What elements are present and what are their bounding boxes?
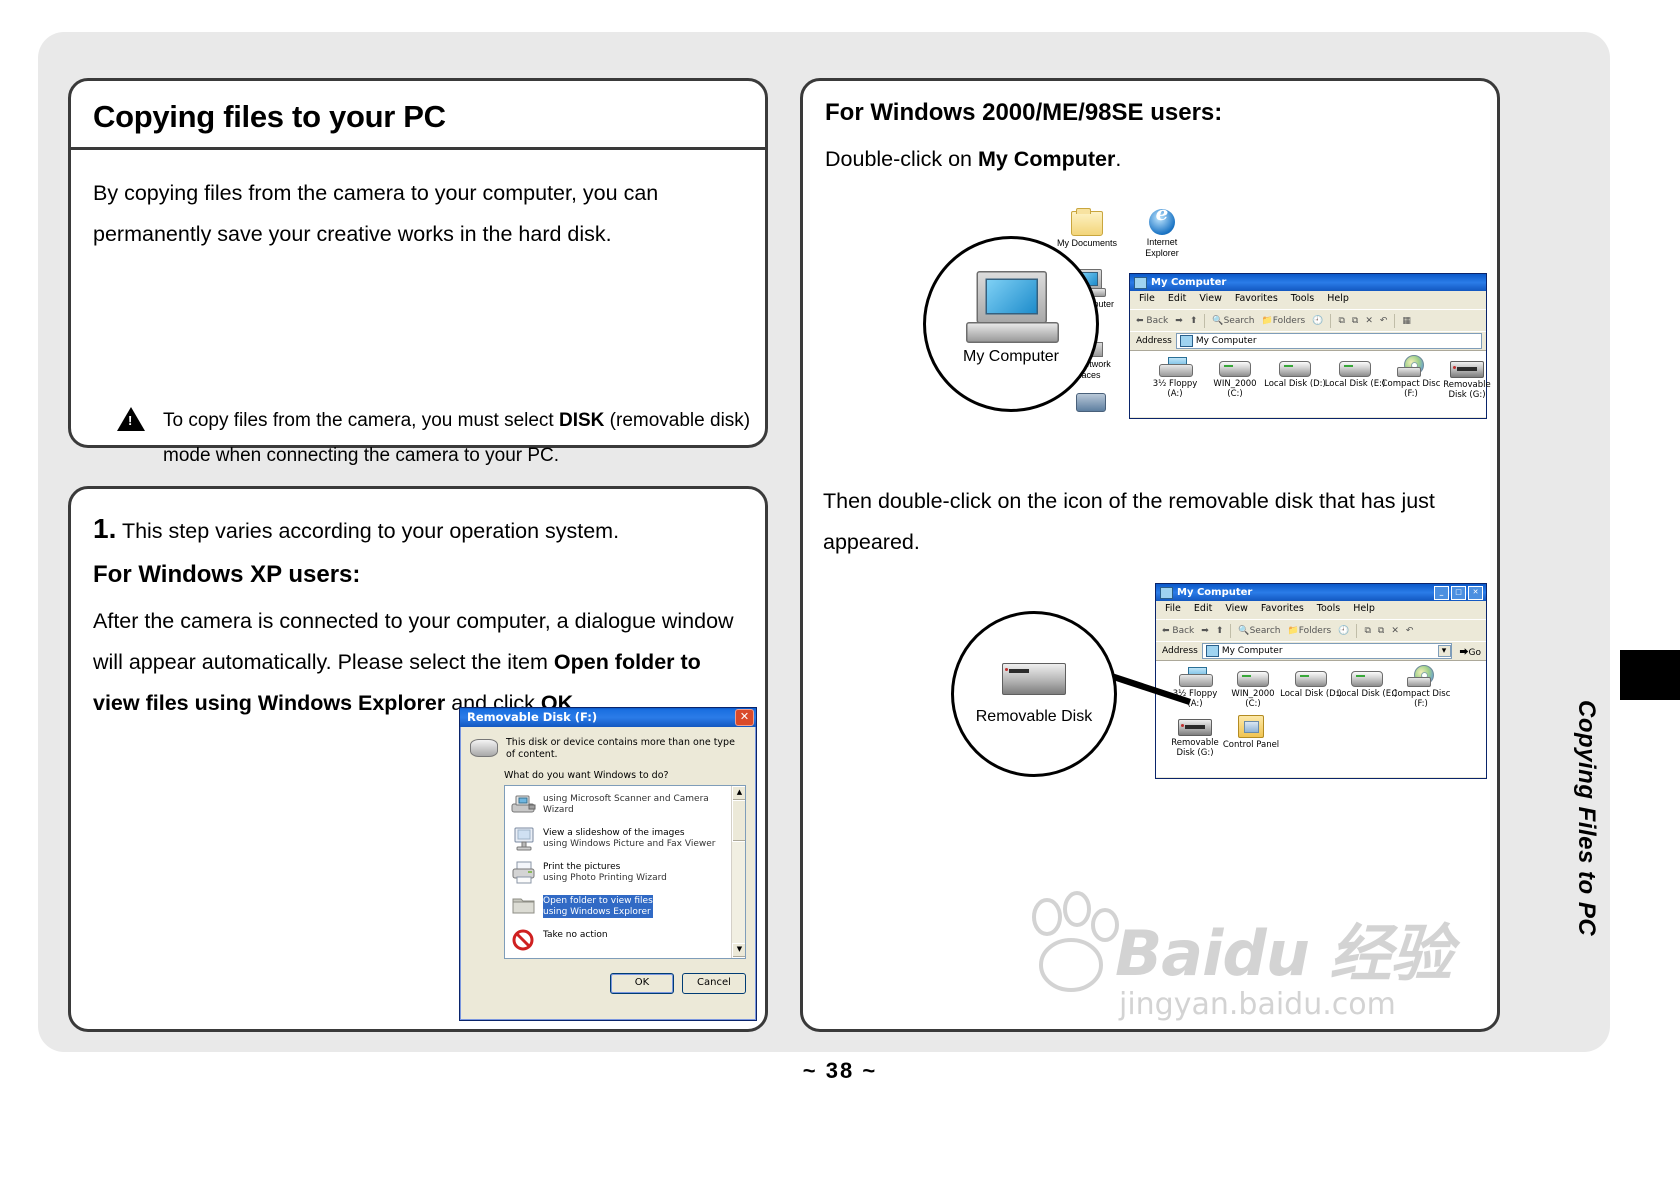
- hard-disk-icon-d-2: [1295, 671, 1327, 687]
- desktop-icon-internet-explorer: Internet Explorer: [1123, 209, 1201, 259]
- menu2-favorites[interactable]: Favorites: [1261, 603, 1304, 619]
- intro-panel: Copying files to your PC By copying file…: [68, 78, 768, 448]
- explorer-1-canvas: 3½ Floppy (A:) WIN_2000 (C:) Local Disk …: [1130, 350, 1486, 417]
- menu-help[interactable]: Help: [1327, 293, 1349, 309]
- win2000-instruction-1: Double-click on My Computer.: [825, 139, 1475, 180]
- explorer-1-titlebar: My Computer: [1130, 274, 1486, 291]
- callout-my-computer-label: My Computer: [963, 347, 1059, 366]
- cd-drive-icon: [1397, 355, 1425, 377]
- address-label: Address: [1136, 336, 1172, 346]
- search-button[interactable]: 🔍Search: [1212, 316, 1254, 326]
- drive-item-cd-2[interactable]: Compact Disc (F:): [1378, 665, 1464, 709]
- cancel-button[interactable]: Cancel: [682, 973, 746, 994]
- warning-exclamation: !: [128, 414, 132, 427]
- move-to-button-2[interactable]: ⧉: [1364, 626, 1370, 636]
- delete-button[interactable]: ✕: [1365, 316, 1373, 326]
- toolbar2-separator-2: [1356, 624, 1357, 638]
- up-button-2[interactable]: ⬆: [1216, 626, 1224, 636]
- page-title: Copying files to your PC: [71, 81, 765, 150]
- dialog-button-row: OK Cancel: [460, 965, 756, 1002]
- step-intro-text: This step varies according to your opera…: [116, 519, 619, 543]
- address-input-2[interactable]: My Computer ▾: [1202, 643, 1452, 659]
- window-controls[interactable]: _ □ ✕: [1434, 586, 1486, 600]
- side-tab-marker: [1620, 650, 1680, 700]
- autoplay-option-scanner[interactable]: using Microsoft Scanner and Camera Wizar…: [505, 786, 745, 822]
- undo-button-2[interactable]: ↶: [1406, 626, 1414, 636]
- explorer-2-menubar[interactable]: File Edit View Favorites Tools Help: [1156, 601, 1486, 619]
- explorer-2-titlebar: My Computer _ □ ✕: [1156, 584, 1486, 601]
- callout-my-computer-icon: [966, 271, 1056, 343]
- desktop-icon-label-internet-explorer: Internet Explorer: [1123, 237, 1201, 259]
- folders-button[interactable]: 📁Folders: [1262, 316, 1306, 326]
- scrollbar-thumb[interactable]: [732, 800, 746, 842]
- move-to-button[interactable]: ⧉: [1338, 316, 1344, 326]
- open-folder-option-line2: using Windows Explorer: [543, 907, 651, 917]
- dialog-title-text: Removable Disk (F:): [467, 708, 597, 727]
- up-button[interactable]: ⬆: [1190, 316, 1198, 326]
- menu2-edit[interactable]: Edit: [1194, 603, 1212, 619]
- forward-button-2[interactable]: ➡: [1201, 626, 1209, 636]
- no-action-icon: [511, 929, 537, 953]
- explorer-1-menubar[interactable]: File Edit View Favorites Tools Help: [1130, 291, 1486, 309]
- history-button-2[interactable]: 🕘: [1338, 626, 1349, 636]
- minimize-icon[interactable]: _: [1434, 586, 1449, 600]
- menu2-tools[interactable]: Tools: [1317, 603, 1340, 619]
- no-action-option-line1: Take no action: [543, 930, 608, 940]
- desktop-icon-extra: [1052, 393, 1130, 412]
- callout-removable-disk: Removable Disk: [951, 611, 1117, 777]
- win2000-subheading: For Windows 2000/ME/98SE users:: [825, 99, 1222, 127]
- right-panel: For Windows 2000/ME/98SE users: Double-c…: [800, 78, 1500, 1032]
- explorer-2-title: My Computer: [1177, 587, 1252, 598]
- instruction-1-pre: Double-click on: [825, 147, 978, 171]
- print-option-line2: using Photo Printing Wizard: [543, 873, 667, 883]
- views-button[interactable]: ▦: [1402, 316, 1411, 326]
- chevron-down-icon[interactable]: ▾: [1438, 645, 1451, 657]
- undo-button[interactable]: ↶: [1380, 316, 1388, 326]
- back-button[interactable]: ⬅ Back: [1136, 316, 1168, 326]
- watermark-sub: jingyan.baidu.com: [1119, 987, 1396, 1022]
- menu2-view[interactable]: View: [1225, 603, 1248, 619]
- menu2-file[interactable]: File: [1165, 603, 1181, 619]
- disk-icon: [470, 739, 498, 757]
- explorer-window-1: My Computer File Edit View Favorites Too…: [1129, 273, 1487, 419]
- search-button-2[interactable]: 🔍Search: [1238, 626, 1280, 636]
- folders-button-2[interactable]: 📁Folders: [1288, 626, 1332, 636]
- note-text-1: To copy files from the camera, you must …: [163, 410, 559, 431]
- print-option-line1: Print the pictures: [543, 862, 620, 872]
- win2000-instruction-2: Then double-click on the icon of the rem…: [823, 481, 1491, 563]
- toolbar-separator-2: [1330, 314, 1331, 328]
- autoplay-option-slideshow-text: View a slideshow of the images using Win…: [543, 827, 715, 850]
- address-input[interactable]: My Computer: [1176, 333, 1482, 349]
- menu-favorites[interactable]: Favorites: [1235, 293, 1278, 309]
- watermark-main: Baidu 经验: [1115, 903, 1451, 993]
- go-button[interactable]: ⮕Go: [1460, 645, 1487, 658]
- drive-item-removable-1[interactable]: Removable Disk (G:): [1424, 361, 1510, 400]
- instruction-1-post: .: [1115, 147, 1121, 171]
- drive-label-cd-2: Compact Disc: [1378, 689, 1464, 699]
- history-button[interactable]: 🕘: [1312, 316, 1323, 326]
- back-button-2[interactable]: ⬅ Back: [1162, 626, 1194, 636]
- autoplay-option-print-text: Print the pictures using Photo Printing …: [543, 861, 667, 884]
- page-number: ~ 38 ~: [0, 1058, 1680, 1084]
- instruction-1-bold: My Computer: [978, 147, 1115, 171]
- toolbar-separator-1: [1204, 314, 1205, 328]
- copy-to-button-2[interactable]: ⧉: [1378, 626, 1384, 636]
- step-number: 1.: [93, 513, 116, 544]
- scroll-down-icon[interactable]: ▼: [732, 943, 746, 958]
- slideshow-option-line1: View a slideshow of the images: [543, 828, 685, 838]
- drive-letter-cd-2: (F:): [1378, 699, 1464, 709]
- dialog-titlebar: Removable Disk (F:) ✕: [460, 708, 756, 727]
- forward-button[interactable]: ➡: [1175, 316, 1183, 326]
- my-documents-folder-icon: [1071, 211, 1103, 236]
- menu-view[interactable]: View: [1199, 293, 1222, 309]
- maximize-icon[interactable]: □: [1451, 586, 1466, 600]
- callout-removable-disk-icon: [1002, 663, 1066, 695]
- autoplay-option-open-folder[interactable]: Open folder to view files using Windows …: [505, 890, 745, 924]
- toolbar-separator-3: [1394, 314, 1395, 328]
- manual-page: Copying files to your PC By copying file…: [0, 0, 1680, 1192]
- note-bold-disk: DISK: [559, 410, 604, 431]
- autoplay-option-list[interactable]: using Microsoft Scanner and Camera Wizar…: [504, 785, 746, 959]
- watermark-paw-icon: [1011, 891, 1131, 1001]
- step-panel: 1. This step varies according to your op…: [68, 486, 768, 1032]
- hard-disk-icon-e: [1339, 361, 1371, 377]
- xp-instruction: After the camera is connected to your co…: [93, 601, 749, 724]
- autoplay-option-no-action-text: Take no action: [543, 929, 608, 941]
- removable-disk-icon: [1450, 361, 1484, 378]
- drive-letter-win2000-1: (C:): [1192, 389, 1278, 399]
- slideshow-option-line2: using Windows Picture and Fax Viewer: [543, 839, 715, 849]
- scanner-option-line2: using Microsoft Scanner and Camera Wizar…: [543, 794, 709, 815]
- desktop-icon-label-my-documents: My Documents: [1048, 238, 1126, 249]
- open-folder-option-line1: Open folder to view files: [543, 896, 653, 906]
- slideshow-icon: [511, 827, 537, 851]
- address-value: My Computer: [1196, 336, 1257, 346]
- close-icon[interactable]: ✕: [735, 709, 754, 726]
- callout-my-computer: My Computer: [923, 236, 1099, 412]
- my-computer-window-icon: [1134, 277, 1147, 289]
- close-window-icon[interactable]: ✕: [1468, 586, 1483, 600]
- drive-label-control-panel: Control Panel: [1208, 740, 1294, 750]
- menu2-help[interactable]: Help: [1353, 603, 1375, 619]
- scroll-up-icon[interactable]: ▲: [732, 786, 746, 801]
- scanner-camera-icon: [511, 793, 537, 817]
- dialog-question: What do you want Windows to do?: [504, 770, 746, 781]
- ok-button[interactable]: OK: [610, 973, 674, 994]
- autoplay-option-no-action[interactable]: Take no action: [505, 924, 745, 958]
- drive-letter-removable-1: Disk (G:): [1424, 390, 1510, 400]
- autoplay-option-slideshow[interactable]: View a slideshow of the images using Win…: [505, 822, 745, 856]
- callout-removable-disk-label: Removable Disk: [976, 707, 1092, 726]
- internet-explorer-icon: [1149, 209, 1175, 235]
- printer-icon: [511, 861, 537, 885]
- autoplay-option-play[interactable]: Play using Windows Media Player: [505, 958, 745, 959]
- my-computer-window-icon-2: [1160, 587, 1173, 599]
- step-1-line: 1. This step varies according to your op…: [93, 511, 745, 552]
- menu-edit[interactable]: Edit: [1168, 293, 1186, 309]
- warning-note: ! To copy files from the camera, you mus…: [163, 403, 763, 473]
- xp-subheading: For Windows XP users:: [93, 561, 360, 589]
- hard-disk-icon-c-2: [1237, 671, 1269, 687]
- dialog-message-row: This disk or device contains more than o…: [470, 737, 746, 761]
- dialog-message: This disk or device contains more than o…: [506, 737, 746, 761]
- cd-drive-icon-2: [1407, 665, 1435, 687]
- address-my-computer-icon: [1180, 335, 1193, 347]
- autoplay-option-print[interactable]: Print the pictures using Photo Printing …: [505, 856, 745, 890]
- explorer-1-addressbar[interactable]: Address My Computer: [1130, 331, 1486, 350]
- intro-paragraph: By copying files from the camera to your…: [93, 173, 745, 255]
- toolbar2-separator-1: [1230, 624, 1231, 638]
- control-panel-icon: [1238, 715, 1264, 738]
- drive-label-removable-1: Removable: [1424, 380, 1510, 390]
- hard-disk-icon-d: [1279, 361, 1311, 377]
- side-tab-label: Copying Files to PC: [1548, 700, 1600, 1040]
- delete-button-2[interactable]: ✕: [1391, 626, 1399, 636]
- explorer-1-toolbar[interactable]: ⬅ Back ➡ ⬆ 🔍Search 📁Folders 🕘 ⧉ ⧉ ✕ ↶ ▦: [1130, 309, 1486, 331]
- menu-file[interactable]: File: [1139, 293, 1155, 309]
- removable-disk-dialog: Removable Disk (F:) ✕ This disk or devic…: [459, 707, 757, 1021]
- folder-icon: [511, 895, 537, 919]
- explorer-2-toolbar[interactable]: ⬅ Back ➡ ⬆ 🔍Search 📁Folders 🕘 ⧉ ⧉ ✕ ↶: [1156, 619, 1486, 641]
- autoplay-option-scanner-text: using Microsoft Scanner and Camera Wizar…: [543, 793, 741, 816]
- desktop-icon-my-documents: My Documents: [1048, 211, 1126, 249]
- dialog-body: This disk or device contains more than o…: [460, 727, 756, 965]
- option-list-scrollbar[interactable]: ▲ ▼: [731, 786, 745, 958]
- autoplay-option-open-folder-text: Open folder to view files using Windows …: [543, 895, 653, 918]
- hard-disk-icon-c: [1219, 361, 1251, 377]
- recycle-bin-icon: [1076, 393, 1106, 412]
- menu-tools[interactable]: Tools: [1291, 293, 1314, 309]
- explorer-1-title: My Computer: [1151, 277, 1226, 288]
- copy-to-button[interactable]: ⧉: [1352, 316, 1358, 326]
- floppy-drive-icon: [1159, 357, 1191, 377]
